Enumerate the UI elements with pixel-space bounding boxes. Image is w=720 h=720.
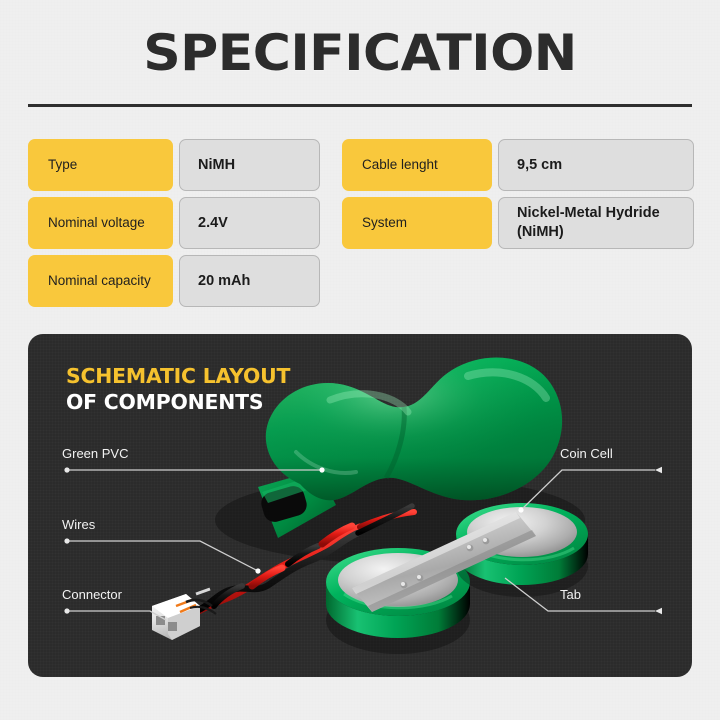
leader-connector: [67, 611, 166, 620]
callout-coin-cell: Coin Cell: [560, 446, 613, 461]
schematic-heading-line2: OF COMPONENTS: [66, 389, 290, 415]
schematic-heading: SCHEMATIC LAYOUT OF COMPONENTS: [66, 363, 290, 415]
callout-connector: Connector: [62, 587, 122, 602]
callout-tab: Tab: [560, 587, 581, 602]
callout-wires: Wires: [62, 517, 95, 532]
callout-green-pvc: Green PVC: [62, 446, 128, 461]
leader-coin-cell: [521, 470, 655, 510]
schematic-heading-line1: SCHEMATIC LAYOUT: [66, 363, 290, 389]
callout-leader-lines: [0, 0, 720, 720]
leader-wires: [67, 541, 258, 571]
